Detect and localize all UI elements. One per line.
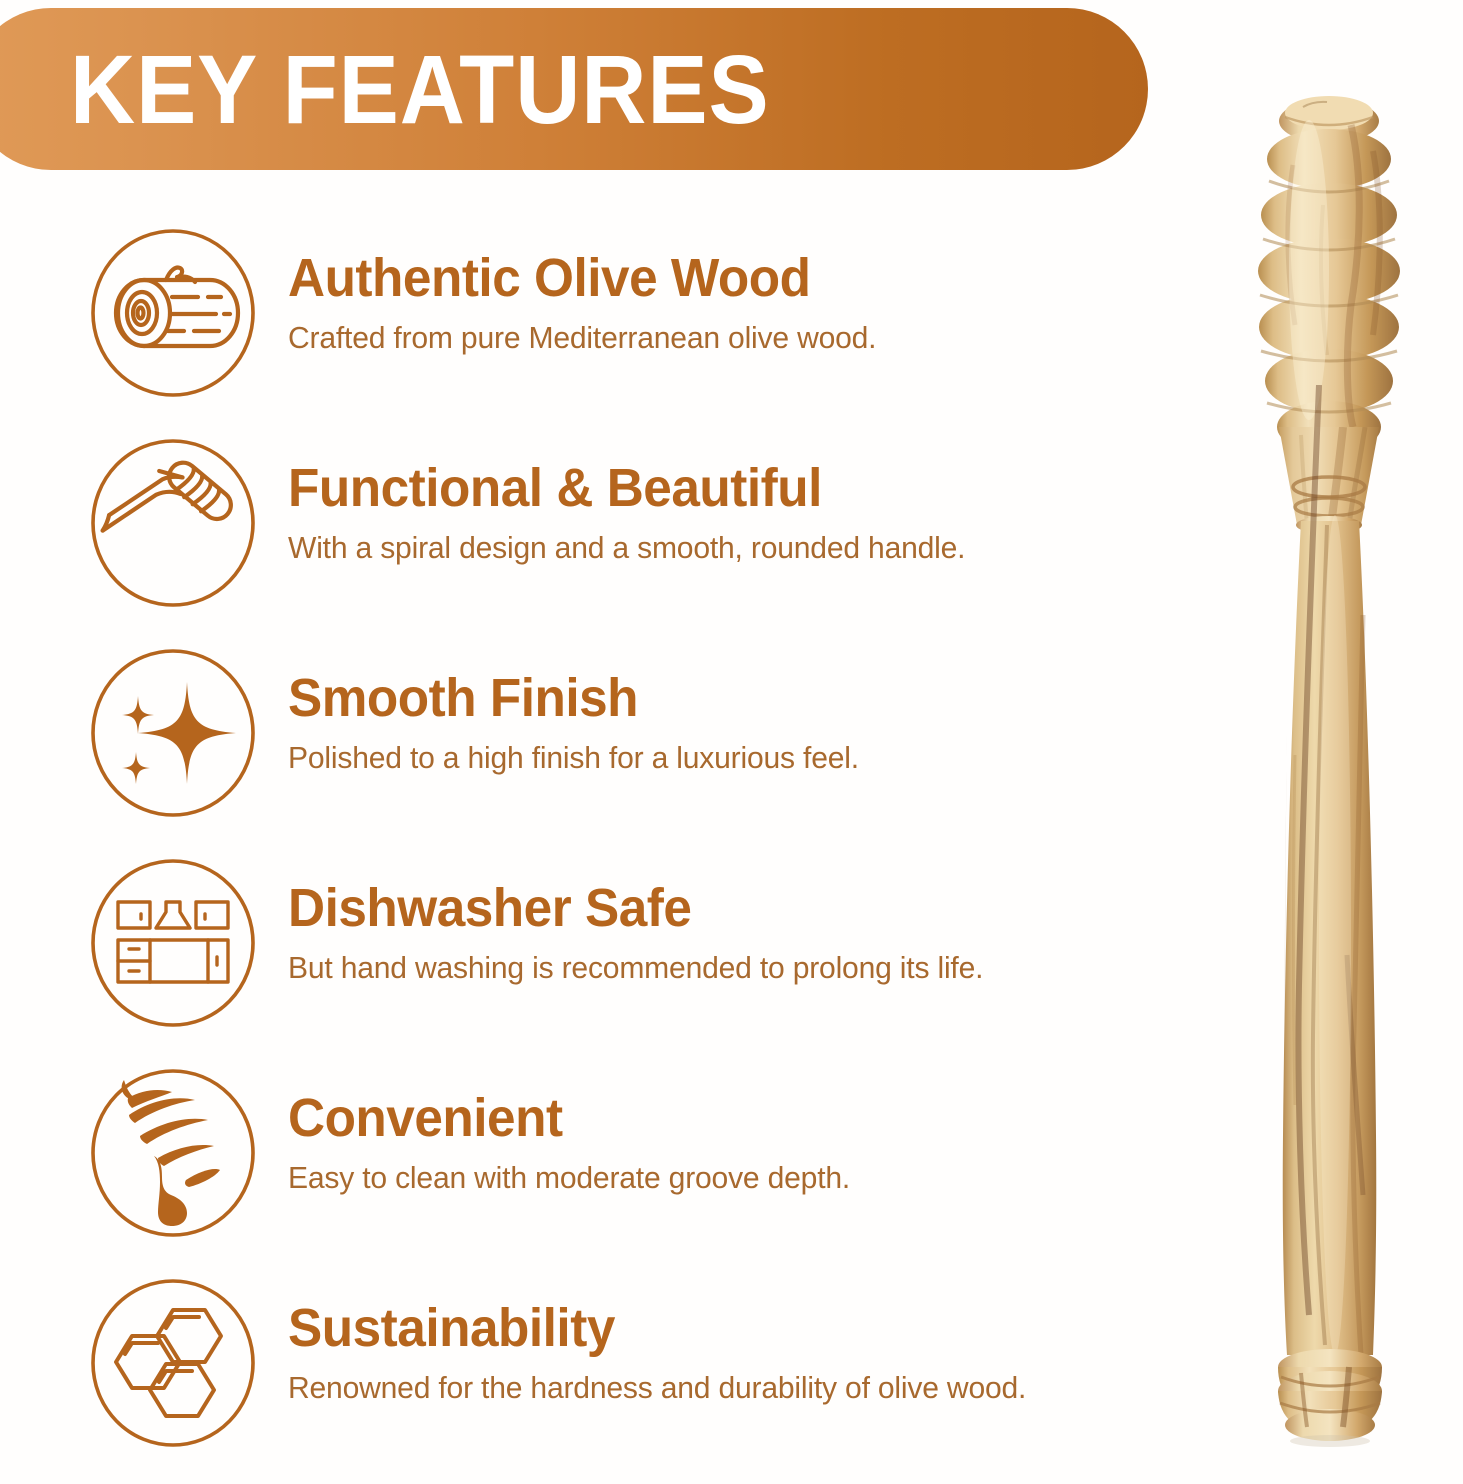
feature-row: Smooth Finish Polished to a high finish … — [0, 648, 1150, 858]
feature-title: Authentic Olive Wood — [288, 250, 1107, 306]
feature-description: Polished to a high finish for a luxuriou… — [288, 740, 1124, 776]
sparkle-icon — [88, 648, 258, 818]
feature-description: Renowned for the hardness and durability… — [288, 1370, 1124, 1406]
feature-row: Dishwasher Safe But hand washing is reco… — [0, 858, 1150, 1068]
page-title: KEY FEATURES — [70, 41, 770, 138]
feature-row: Sustainability Renowned for the hardness… — [0, 1278, 1150, 1484]
feature-text: Sustainability Renowned for the hardness… — [288, 1278, 1150, 1406]
feature-description: Crafted from pure Mediterranean olive wo… — [288, 320, 1124, 356]
feature-title: Convenient — [288, 1090, 1107, 1146]
dipper-head — [1258, 96, 1400, 453]
feature-text: Smooth Finish Polished to a high finish … — [288, 648, 1150, 776]
product-image-honey-dipper — [1223, 55, 1453, 1475]
feature-text: Functional & Beautiful With a spiral des… — [288, 438, 1150, 566]
log-icon — [88, 228, 258, 398]
feature-description: With a spiral design and a smooth, round… — [288, 530, 1124, 566]
feature-description: But hand washing is recommended to prolo… — [288, 950, 1124, 986]
feature-title: Sustainability — [288, 1300, 1107, 1356]
honey-dipper-icon — [88, 438, 258, 608]
dipper-handle — [1279, 385, 1383, 1355]
key-features-banner: KEY FEATURES — [0, 8, 1148, 170]
feature-list: Authentic Olive Wood Crafted from pure M… — [0, 228, 1150, 1484]
feature-description: Easy to clean with moderate groove depth… — [288, 1160, 1124, 1196]
key-features-infographic: KEY FEATURES — [0, 0, 1463, 1484]
dipper-foot — [1278, 1349, 1382, 1447]
feature-title: Dishwasher Safe — [288, 880, 1107, 936]
feature-row: Authentic Olive Wood Crafted from pure M… — [0, 228, 1150, 438]
feature-title: Functional & Beautiful — [288, 460, 1107, 516]
feature-text: Dishwasher Safe But hand washing is reco… — [288, 858, 1150, 986]
feature-text: Authentic Olive Wood Crafted from pure M… — [288, 228, 1150, 356]
feature-text: Convenient Easy to clean with moderate g… — [288, 1068, 1150, 1196]
honeycomb-icon — [88, 1278, 258, 1448]
feature-row: Convenient Easy to clean with moderate g… — [0, 1068, 1150, 1278]
dipper-neck — [1279, 427, 1379, 534]
feature-row: Functional & Beautiful With a spiral des… — [0, 438, 1150, 648]
kitchen-cabinet-icon — [88, 858, 258, 1028]
feature-title: Smooth Finish — [288, 670, 1107, 726]
honey-drip-icon — [88, 1068, 258, 1238]
